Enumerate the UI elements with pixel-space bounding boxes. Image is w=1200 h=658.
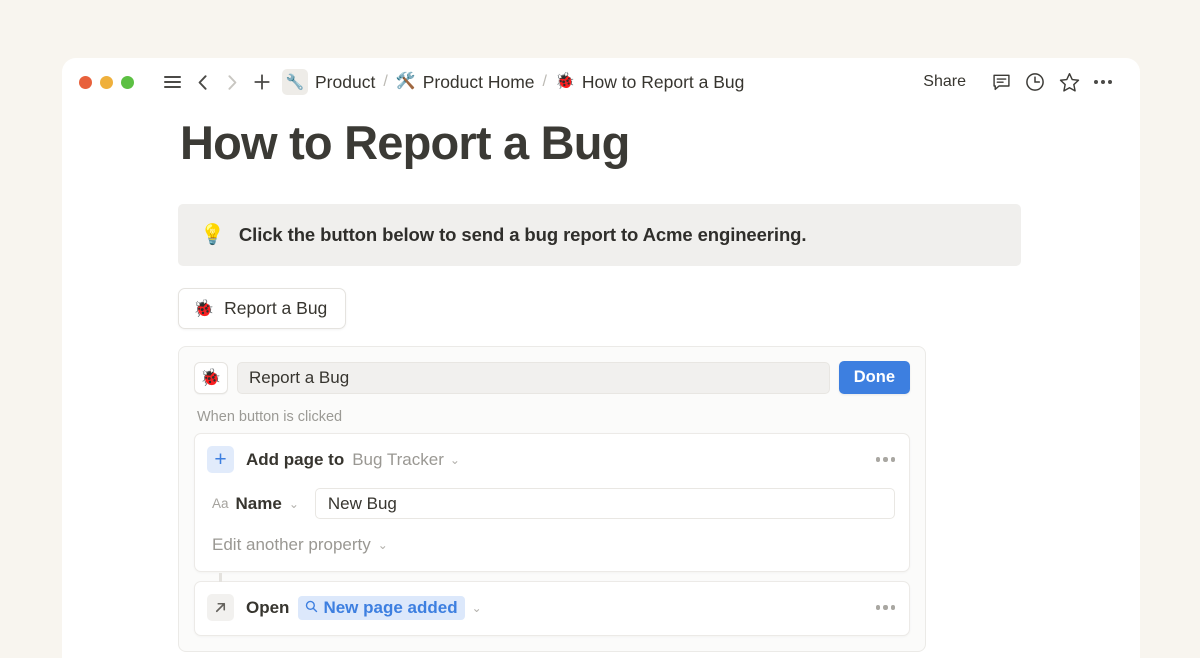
property-row-name: Aa Name ⌄ New Bug <box>207 488 895 519</box>
share-button[interactable]: Share <box>913 69 976 95</box>
forward-button[interactable] <box>218 68 246 96</box>
breadcrumb-separator: / <box>383 73 387 91</box>
plus-icon <box>254 74 270 90</box>
bug-icon: 🐞 <box>555 74 575 90</box>
ellipsis-icon <box>876 457 895 461</box>
action-target-select[interactable]: Bug Tracker ⌄ <box>352 450 460 470</box>
plus-icon: + <box>207 446 234 473</box>
titlebar-actions: Share <box>913 67 1118 97</box>
property-value-input[interactable]: New Bug <box>315 488 895 519</box>
edit-another-property-label: Edit another property <box>212 535 371 555</box>
chevron-down-icon: ⌄ <box>378 539 388 551</box>
lightbulb-icon: 💡 <box>200 225 225 245</box>
trigger-label: When button is clicked <box>197 409 910 425</box>
bug-icon: 🐞 <box>193 299 214 319</box>
action-header[interactable]: + Add page to Bug Tracker ⌄ <box>207 446 895 473</box>
open-target-pill[interactable]: New page added <box>298 596 464 620</box>
breadcrumb-label: Product Home <box>423 72 535 93</box>
action-header[interactable]: Open New page added ⌄ <box>207 594 895 621</box>
close-window-button[interactable] <box>79 76 92 89</box>
breadcrumb-label: Product <box>315 72 375 93</box>
chevron-right-icon <box>228 75 237 90</box>
breadcrumb-label: How to Report a Bug <box>582 72 744 93</box>
callout-block: 💡 Click the button below to send a bug r… <box>178 204 1021 266</box>
report-a-bug-block-button[interactable]: 🐞 Report a Bug <box>178 288 346 329</box>
editor-header: 🐞 Report a Bug Done <box>194 361 910 394</box>
action-card-add-page: + Add page to Bug Tracker ⌄ Aa Name <box>194 433 910 572</box>
button-editor-panel: 🐞 Report a Bug Done When button is click… <box>178 346 926 652</box>
action-target-label: Bug Tracker <box>352 450 444 470</box>
text-property-icon: Aa <box>212 496 229 511</box>
star-icon <box>1059 72 1080 93</box>
nav-controls <box>158 68 276 96</box>
back-button[interactable] <box>188 68 216 96</box>
hamburger-icon <box>164 76 181 89</box>
button-name-input[interactable]: Report a Bug <box>237 362 830 394</box>
window-controls <box>79 76 134 89</box>
new-page-button[interactable] <box>248 68 276 96</box>
callout-text: Click the button below to send a bug rep… <box>239 224 806 246</box>
action-label: Open <box>246 598 289 618</box>
app-window: 🔧 Product / 🛠️ Product Home / 🐞 How to R… <box>62 58 1140 658</box>
more-options-button[interactable] <box>1088 67 1118 97</box>
minimize-window-button[interactable] <box>100 76 113 89</box>
chevron-down-icon: ⌄ <box>450 454 460 466</box>
page-content: How to Report a Bug 💡 Click the button b… <box>62 106 1140 652</box>
action-card-open: Open New page added ⌄ <box>194 581 910 636</box>
chevron-left-icon <box>198 75 207 90</box>
action-target-select[interactable]: New page added ⌄ <box>289 596 481 620</box>
search-icon <box>305 600 318 616</box>
property-name: Name <box>236 494 282 514</box>
breadcrumb-separator: / <box>543 73 547 91</box>
breadcrumb-item-current-page[interactable]: 🐞 How to Report a Bug <box>555 72 744 93</box>
sidebar-toggle-button[interactable] <box>158 68 186 96</box>
breadcrumb: Product / 🛠️ Product Home / 🐞 How to Rep… <box>315 72 744 93</box>
ellipsis-icon <box>876 605 895 609</box>
action-more-button[interactable] <box>876 605 895 609</box>
button-label: Report a Bug <box>224 298 327 319</box>
chevron-down-icon: ⌄ <box>472 602 482 614</box>
action-more-button[interactable] <box>876 457 895 461</box>
comment-icon <box>992 73 1011 92</box>
clock-icon <box>1025 72 1045 92</box>
favorite-button[interactable] <box>1054 67 1084 97</box>
open-target-label: New page added <box>323 598 457 618</box>
ellipsis-icon <box>1094 80 1113 84</box>
chevron-down-icon[interactable]: ⌄ <box>289 498 299 510</box>
comments-button[interactable] <box>986 67 1016 97</box>
workspace-icon[interactable]: 🔧 <box>282 69 308 95</box>
emoji-picker-button[interactable]: 🐞 <box>194 362 228 394</box>
breadcrumb-item-product-home[interactable]: 🛠️ Product Home <box>396 72 535 93</box>
page-title: How to Report a Bug <box>180 116 1140 170</box>
history-button[interactable] <box>1020 67 1050 97</box>
edit-another-property-button[interactable]: Edit another property ⌄ <box>212 535 895 555</box>
arrow-up-right-icon <box>207 594 234 621</box>
action-label: Add page to <box>246 450 344 470</box>
done-button[interactable]: Done <box>839 361 910 394</box>
maximize-window-button[interactable] <box>121 76 134 89</box>
titlebar: 🔧 Product / 🛠️ Product Home / 🐞 How to R… <box>62 58 1140 106</box>
action-connector <box>219 573 222 582</box>
tools-icon: 🛠️ <box>396 74 416 90</box>
breadcrumb-item-product[interactable]: Product <box>315 72 375 93</box>
